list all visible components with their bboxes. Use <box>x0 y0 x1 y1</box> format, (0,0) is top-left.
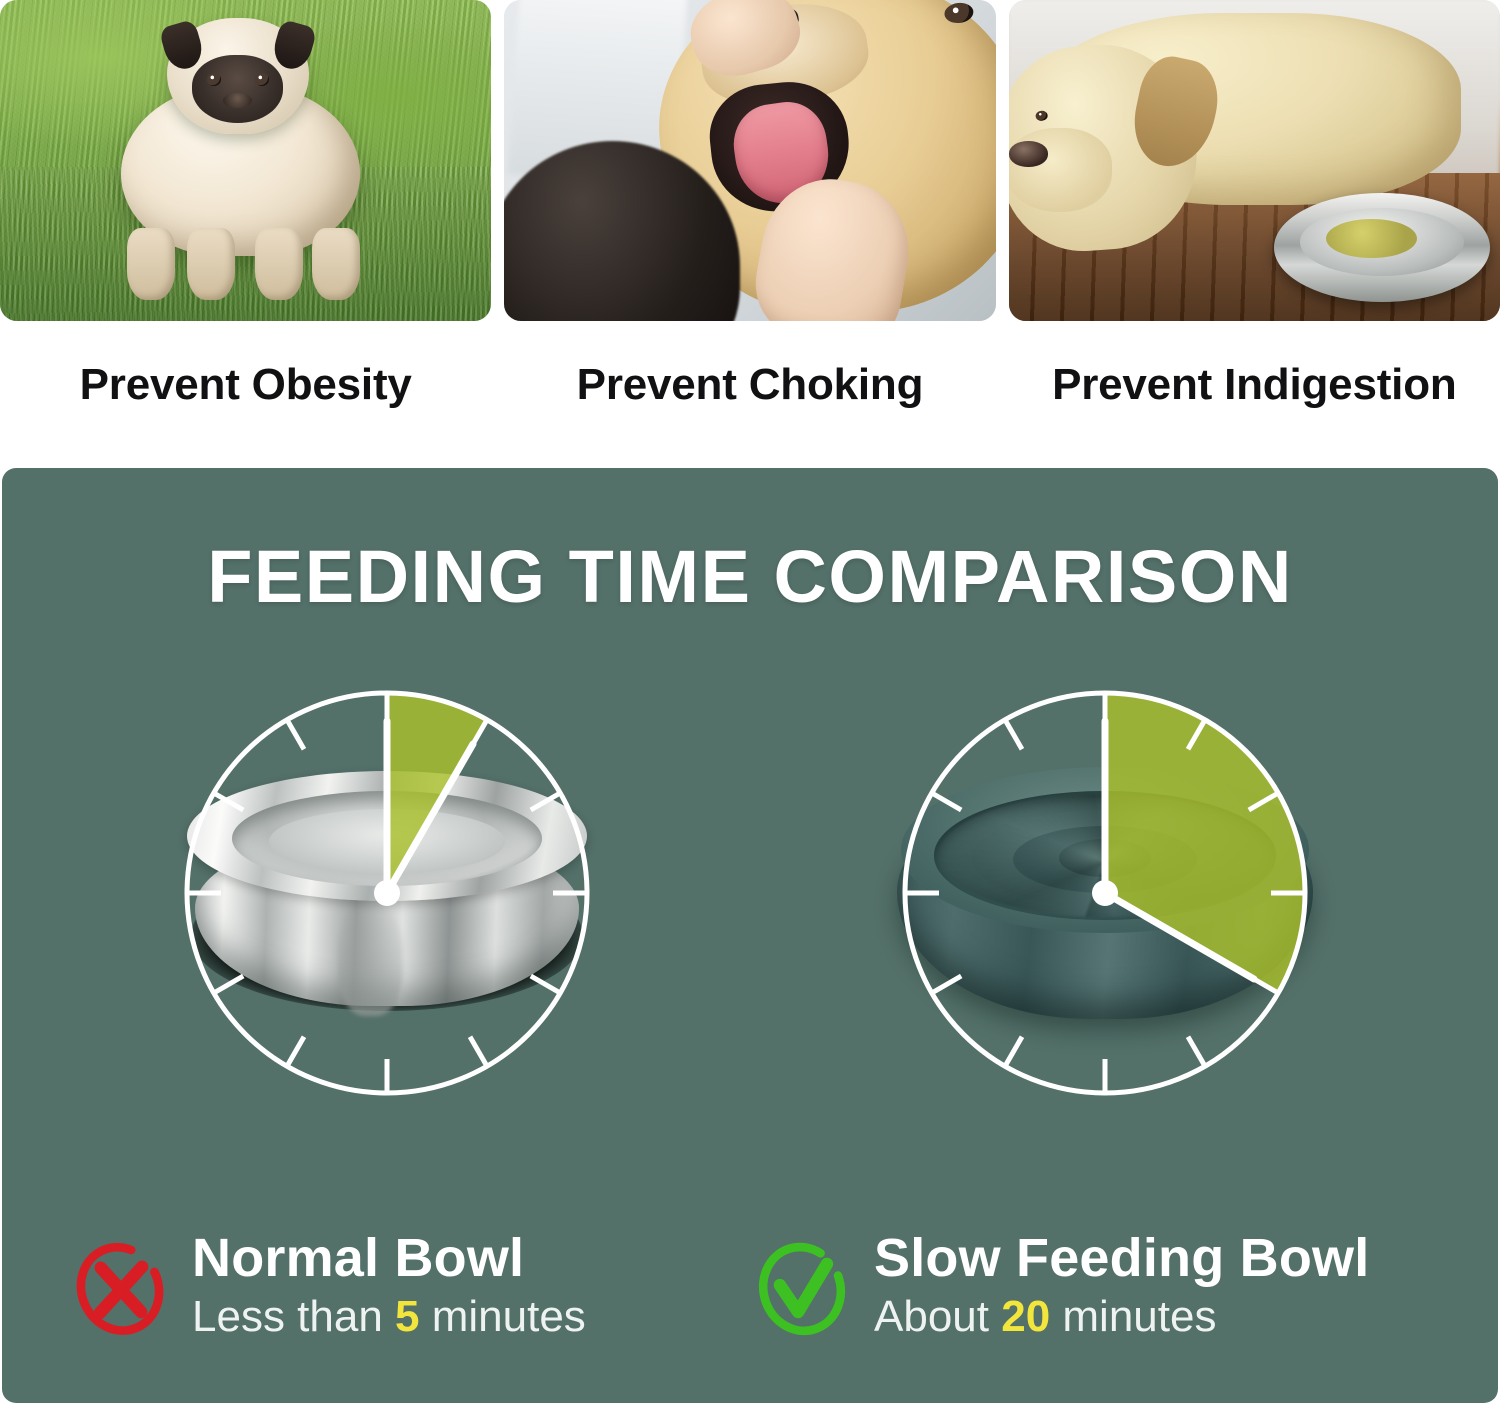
pug-figure <box>98 13 383 289</box>
pug-face <box>192 55 283 122</box>
pug-ear <box>158 19 206 74</box>
clock-center-hub <box>1092 880 1118 906</box>
photo-prevent-indigestion <box>1009 0 1500 321</box>
clock-center-hub <box>374 880 400 906</box>
circle-cross-icon <box>72 1235 168 1339</box>
result-title: Slow Feeding Bowl <box>874 1230 1369 1287</box>
clock-dial-normal <box>177 683 597 1103</box>
dog-nose <box>1009 141 1048 167</box>
result-text: Slow Feeding Bowl About 20 minutes <box>874 1230 1369 1343</box>
result-sub-value: 5 <box>395 1292 419 1341</box>
dog-eye <box>1035 110 1047 121</box>
pug-ear <box>269 19 317 74</box>
caption-prevent-obesity: Prevent Obesity <box>0 330 491 440</box>
panel-title: FEEDING TIME COMPARISON <box>2 534 1498 619</box>
result-normal-bowl: Normal Bowl Less than 5 minutes <box>72 1230 586 1343</box>
result-subtitle: Less than 5 minutes <box>192 1291 586 1343</box>
clock-dial-slow <box>895 683 1315 1103</box>
steel-bowl <box>1274 193 1490 302</box>
photo-prevent-choking <box>504 0 995 321</box>
bowl-food <box>1326 219 1417 258</box>
photo-strip <box>0 0 1500 321</box>
pug-muzzle <box>223 93 252 108</box>
pug-leg <box>312 228 360 300</box>
hand-feeding-golden-retriever-image <box>504 0 995 321</box>
pug-head <box>167 18 309 134</box>
normal-bowl-clock <box>177 683 597 1103</box>
result-text: Normal Bowl Less than 5 minutes <box>192 1230 586 1343</box>
result-subtitle: About 20 minutes <box>874 1291 1369 1343</box>
labrador-beside-bowl-image <box>1009 0 1500 321</box>
result-sub-suffix: minutes <box>420 1292 586 1341</box>
infographic-page: Prevent Obesity Prevent Choking Prevent … <box>0 0 1500 1405</box>
caption-prevent-choking: Prevent Choking <box>504 330 995 440</box>
result-sub-prefix: Less than <box>192 1292 395 1341</box>
result-title: Normal Bowl <box>192 1230 586 1287</box>
pug-eye <box>207 73 221 86</box>
result-sub-prefix: About <box>874 1292 1001 1341</box>
circle-check-icon <box>754 1235 850 1339</box>
pug-eye <box>255 73 269 86</box>
result-slow-feeding-bowl: Slow Feeding Bowl About 20 minutes <box>754 1230 1369 1343</box>
fat-pug-on-grass-image <box>0 0 491 321</box>
caption-prevent-indigestion: Prevent Indigestion <box>1009 330 1500 440</box>
result-sub-suffix: minutes <box>1050 1292 1216 1341</box>
slow-feeding-bowl-clock <box>895 683 1315 1103</box>
result-sub-value: 20 <box>1001 1292 1050 1341</box>
pug-leg <box>255 228 303 300</box>
photo-prevent-obesity <box>0 0 491 321</box>
caption-row: Prevent Obesity Prevent Choking Prevent … <box>0 330 1500 440</box>
pug-leg <box>127 228 175 300</box>
pug-leg <box>187 228 235 300</box>
feeding-time-comparison-panel: FEEDING TIME COMPARISON <box>2 468 1498 1403</box>
